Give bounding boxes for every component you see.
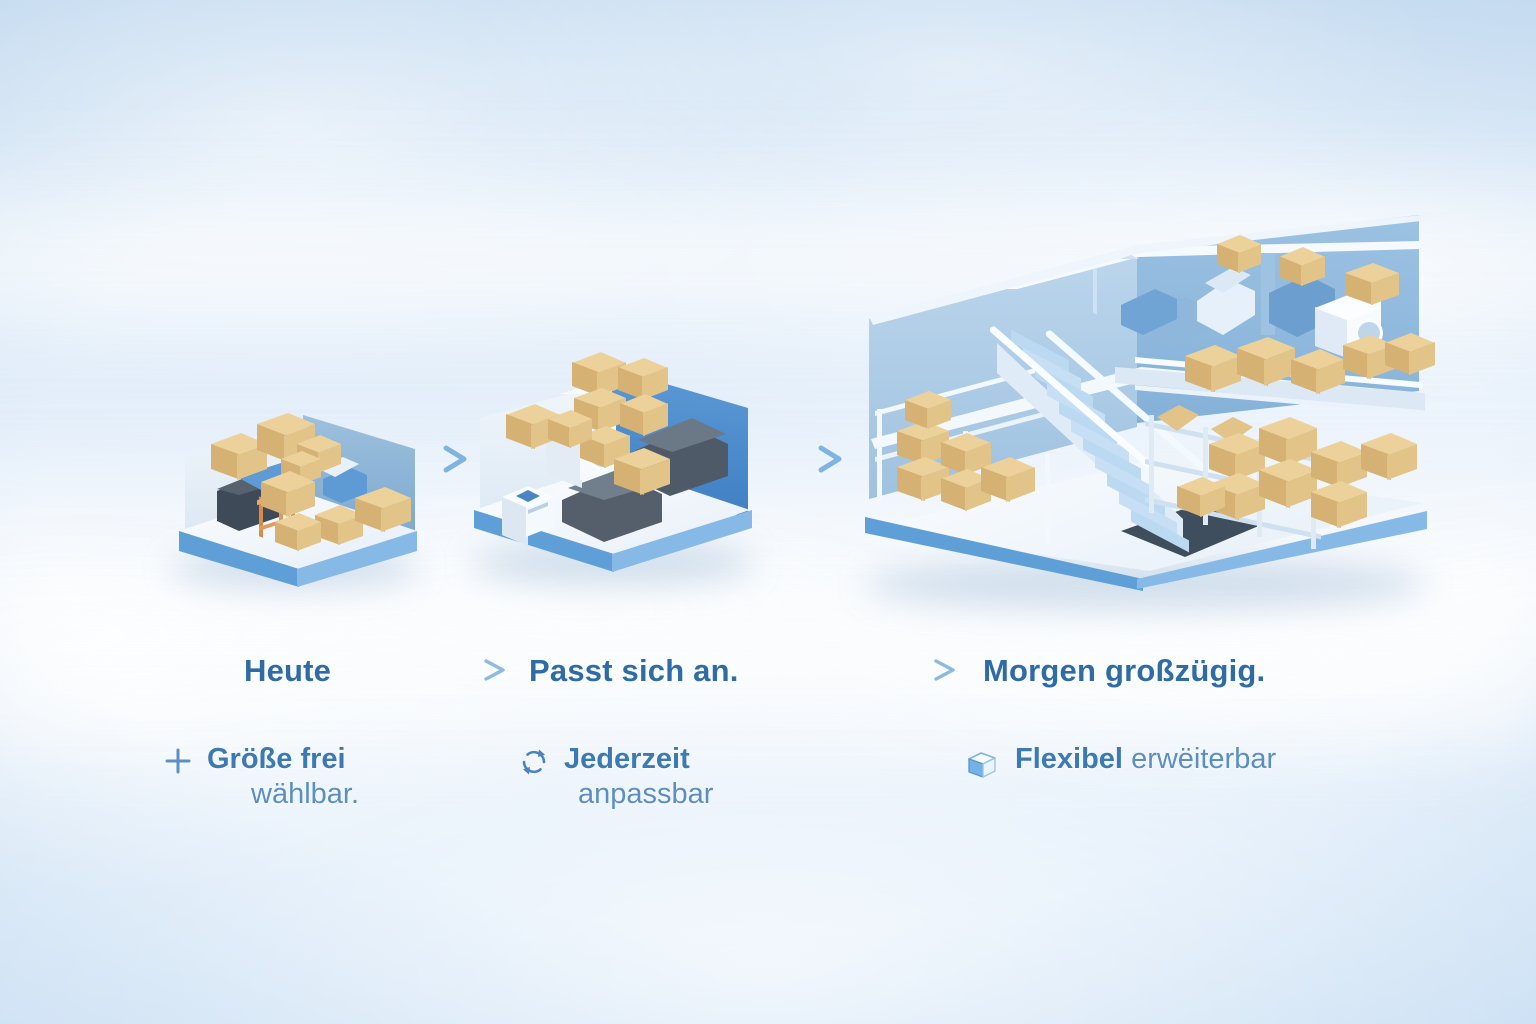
box	[548, 410, 592, 450]
step-bullet-3-line2: erwëiterbar	[1131, 743, 1276, 775]
step-bullet-1-line1: Größe frei	[207, 743, 346, 775]
step-bullet-2: Jederzeit anpassbar	[518, 742, 788, 813]
step-bullet-1: Größe frei wählbar.	[163, 742, 423, 813]
step-bullet-2-line1: Jederzeit	[564, 743, 690, 775]
box	[614, 448, 670, 498]
box	[1237, 337, 1295, 389]
box	[1279, 247, 1325, 289]
cube-icon	[963, 746, 1001, 789]
box	[1361, 433, 1417, 483]
refresh-icon	[518, 746, 550, 783]
box	[1259, 459, 1317, 511]
step-bullet-3-line1: Flexibel	[1015, 743, 1123, 775]
stove	[502, 486, 554, 556]
medium-storage-unit[interactable]	[462, 352, 762, 592]
step-bullet-3: Flexibel erwëiterbar	[963, 742, 1413, 789]
box	[905, 391, 951, 431]
box	[355, 487, 411, 535]
infographic-canvas: Heute Passt sich an. Morgen großzügig.	[0, 0, 1536, 1024]
step-bullet-1-line2: wählbar.	[251, 777, 359, 812]
unit-arrow-2	[775, 442, 851, 476]
box	[1385, 333, 1435, 377]
step-title-3: Morgen großzügig.	[983, 653, 1265, 689]
large-two-story-warehouse[interactable]	[845, 205, 1455, 620]
box	[275, 513, 321, 553]
box	[1185, 345, 1241, 395]
box	[1345, 263, 1399, 307]
box	[981, 457, 1035, 505]
box	[261, 471, 315, 519]
box	[1311, 481, 1367, 531]
box	[1217, 235, 1261, 275]
step-title-1: Heute	[244, 653, 331, 689]
box	[1291, 349, 1345, 397]
box	[1177, 477, 1225, 519]
step-bullet-2-line2: anpassbar	[578, 777, 713, 812]
step-title-2: Passt sich an.	[529, 653, 739, 689]
small-storage-unit[interactable]	[165, 395, 425, 595]
plus-icon	[163, 746, 193, 781]
caption-arrow-2	[776, 655, 966, 685]
caption-arrow-1	[366, 655, 516, 685]
